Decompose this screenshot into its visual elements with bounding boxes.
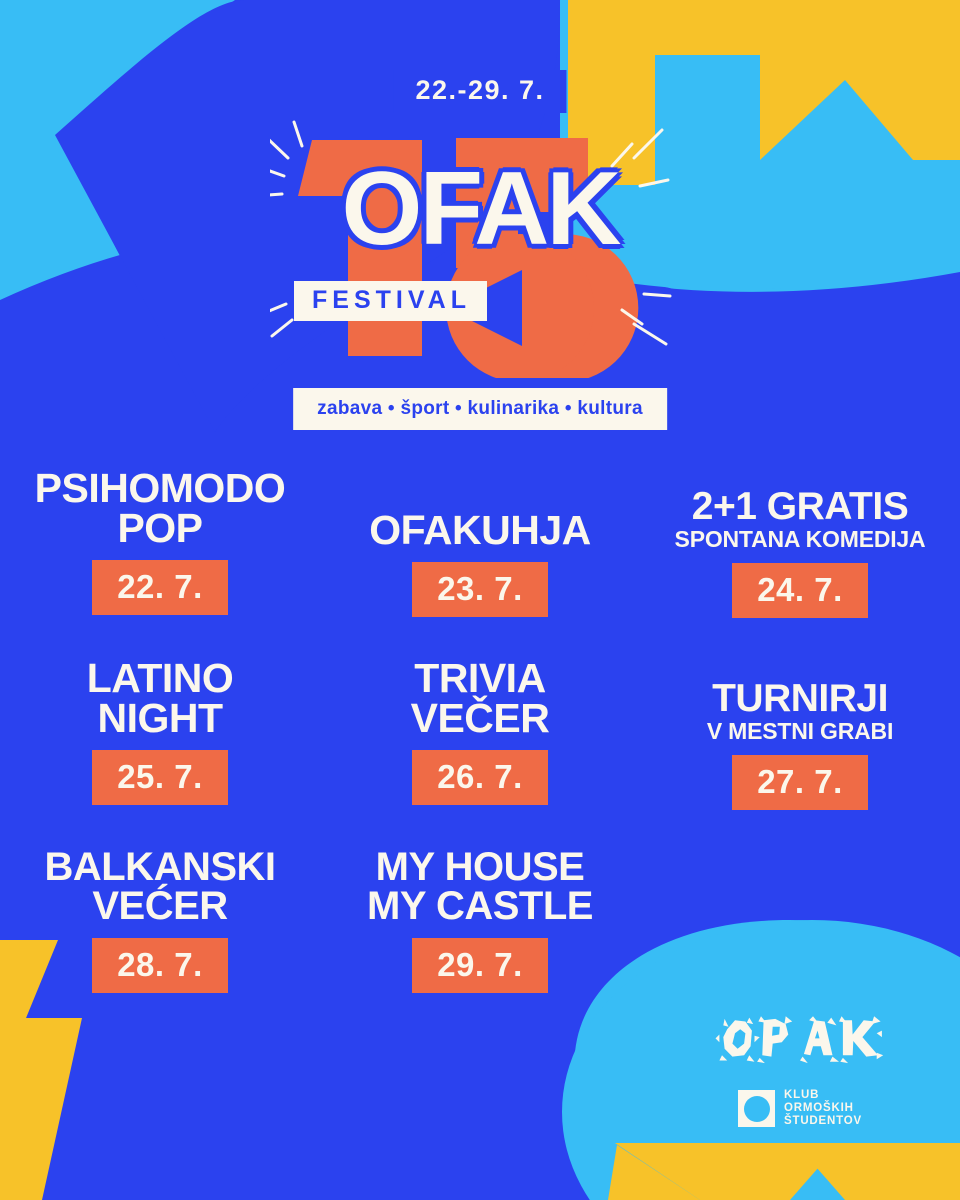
klub-line-2: ORMOŠKIH xyxy=(784,1102,862,1115)
klub-square-circle-icon xyxy=(738,1090,775,1127)
footer-logos: KLUB ORMOŠKIH ŠTUDENTOV xyxy=(700,1015,900,1128)
program-grid: PSIHOMODO POP 22. 7. OFAKUHJA 23. 7. 2+1… xyxy=(0,468,960,1038)
event-card[interactable]: PSIHOMODO POP 22. 7. xyxy=(0,468,320,658)
festival-logo: OFAK FESTIVAL xyxy=(270,118,690,378)
program-row: LATINO NIGHT 25. 7. TRIVIA VEČER 26. 7. … xyxy=(0,658,960,848)
event-card[interactable]: TURNIRJI V MESTNI GRABI 27. 7. xyxy=(640,658,960,848)
event-date-badge: 26. 7. xyxy=(412,750,548,805)
event-title: BALKANSKI VEĆER xyxy=(44,848,275,926)
tagline-banner: zabava • šport • kulinarika • kultura xyxy=(293,388,667,430)
event-card[interactable]: BALKANSKI VEĆER 28. 7. xyxy=(0,848,320,1038)
event-card[interactable]: LATINO NIGHT 25. 7. xyxy=(0,658,320,848)
event-card[interactable]: 2+1 GRATIS SPONTANA KOMEDIJA 24. 7. xyxy=(640,468,960,658)
klub-name: KLUB ORMOŠKIH ŠTUDENTOV xyxy=(784,1089,862,1128)
event-subtitle: V MESTNI GRABI xyxy=(707,719,893,743)
klub-line-3: ŠTUDENTOV xyxy=(784,1115,862,1128)
event-card[interactable]: OFAKUHJA 23. 7. xyxy=(320,468,640,658)
festival-poster: 22.-29. 7. xyxy=(0,0,960,1200)
event-card[interactable]: MY HOUSE MY CASTLE 29. 7. xyxy=(320,848,640,1038)
event-date-badge: 29. 7. xyxy=(412,938,548,993)
program-row: BALKANSKI VEĆER 28. 7. MY HOUSE MY CASTL… xyxy=(0,848,960,1038)
date-range-banner: 22.-29. 7. xyxy=(393,70,566,113)
event-date-badge: 25. 7. xyxy=(92,750,228,805)
event-title: TRIVIA VEČER xyxy=(411,658,550,738)
event-title: 2+1 GRATIS xyxy=(692,488,908,526)
event-title: OFAKUHJA xyxy=(369,510,591,550)
event-date-badge: 27. 7. xyxy=(732,755,868,810)
program-row: PSIHOMODO POP 22. 7. OFAKUHJA 23. 7. 2+1… xyxy=(0,468,960,658)
event-date-badge: 28. 7. xyxy=(92,938,228,993)
klub-ormoskih-studentov-logo: KLUB ORMOŠKIH ŠTUDENTOV xyxy=(738,1089,862,1128)
ofak-grunge-logo xyxy=(715,1015,885,1067)
event-date-badge: 22. 7. xyxy=(92,560,228,615)
ofak-wordmark: OFAK xyxy=(270,166,690,253)
event-title: TURNIRJI xyxy=(712,680,888,718)
event-subtitle: SPONTANA KOMEDIJA xyxy=(675,527,926,551)
event-title: LATINO NIGHT xyxy=(87,658,234,738)
event-title: PSIHOMODO POP xyxy=(35,468,286,548)
event-title: MY HOUSE MY CASTLE xyxy=(367,848,593,926)
festival-label: FESTIVAL xyxy=(294,281,487,321)
event-date-badge: 23. 7. xyxy=(412,562,548,617)
klub-line-1: KLUB xyxy=(784,1089,862,1102)
event-date-badge: 24. 7. xyxy=(732,563,868,618)
event-card[interactable]: TRIVIA VEČER 26. 7. xyxy=(320,658,640,848)
